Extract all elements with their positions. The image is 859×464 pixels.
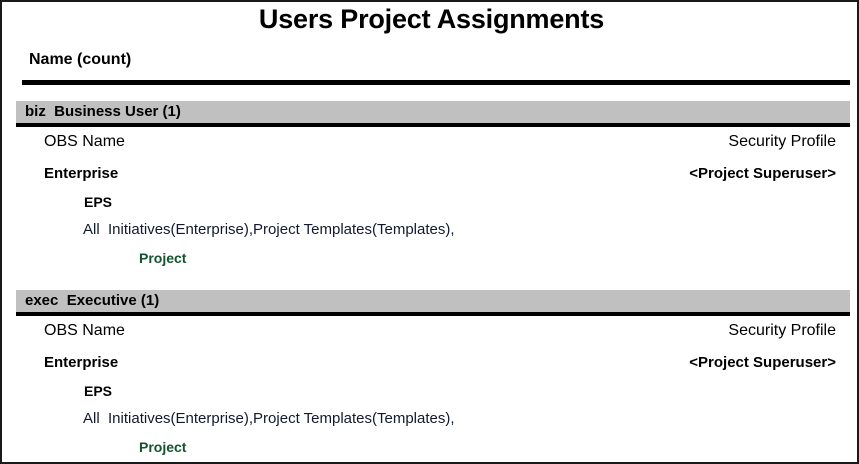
row-obs-name-exec: Enterprise <box>44 354 118 371</box>
report-page: Users Project Assignments Name (count) b… <box>0 0 859 464</box>
row-eps-label-biz: EPS <box>84 194 112 210</box>
page-title: Users Project Assignments <box>2 4 859 35</box>
group-header-label-exec: exec Executive (1) <box>25 292 159 309</box>
subheader-security-profile-biz: Security Profile <box>728 133 836 151</box>
row-eps-label-exec: EPS <box>84 383 112 399</box>
row-project-label-biz: Project <box>139 250 186 266</box>
group-rule-exec <box>16 312 850 316</box>
header-rule <box>22 80 850 85</box>
row-security-profile-biz: <Project Superuser> <box>689 165 836 182</box>
group-rule-biz <box>16 123 850 127</box>
row-project-label-exec: Project <box>139 439 186 455</box>
row-obs-name-biz: Enterprise <box>44 165 118 182</box>
row-node-list-biz: All Initiatives(Enterprise),Project Temp… <box>83 221 455 238</box>
subheader-security-profile-exec: Security Profile <box>728 322 836 340</box>
group-header-bar-exec[interactable]: exec Executive (1) <box>16 290 850 312</box>
row-node-list-exec: All Initiatives(Enterprise),Project Temp… <box>83 410 455 427</box>
subheader-obs-name-biz: OBS Name <box>44 133 125 151</box>
group-header-bar-biz[interactable]: biz Business User (1) <box>16 101 850 123</box>
subheader-obs-name-exec: OBS Name <box>44 322 125 340</box>
column-header-name: Name (count) <box>29 51 131 69</box>
row-security-profile-exec: <Project Superuser> <box>689 354 836 371</box>
group-header-label-biz: biz Business User (1) <box>25 103 181 120</box>
